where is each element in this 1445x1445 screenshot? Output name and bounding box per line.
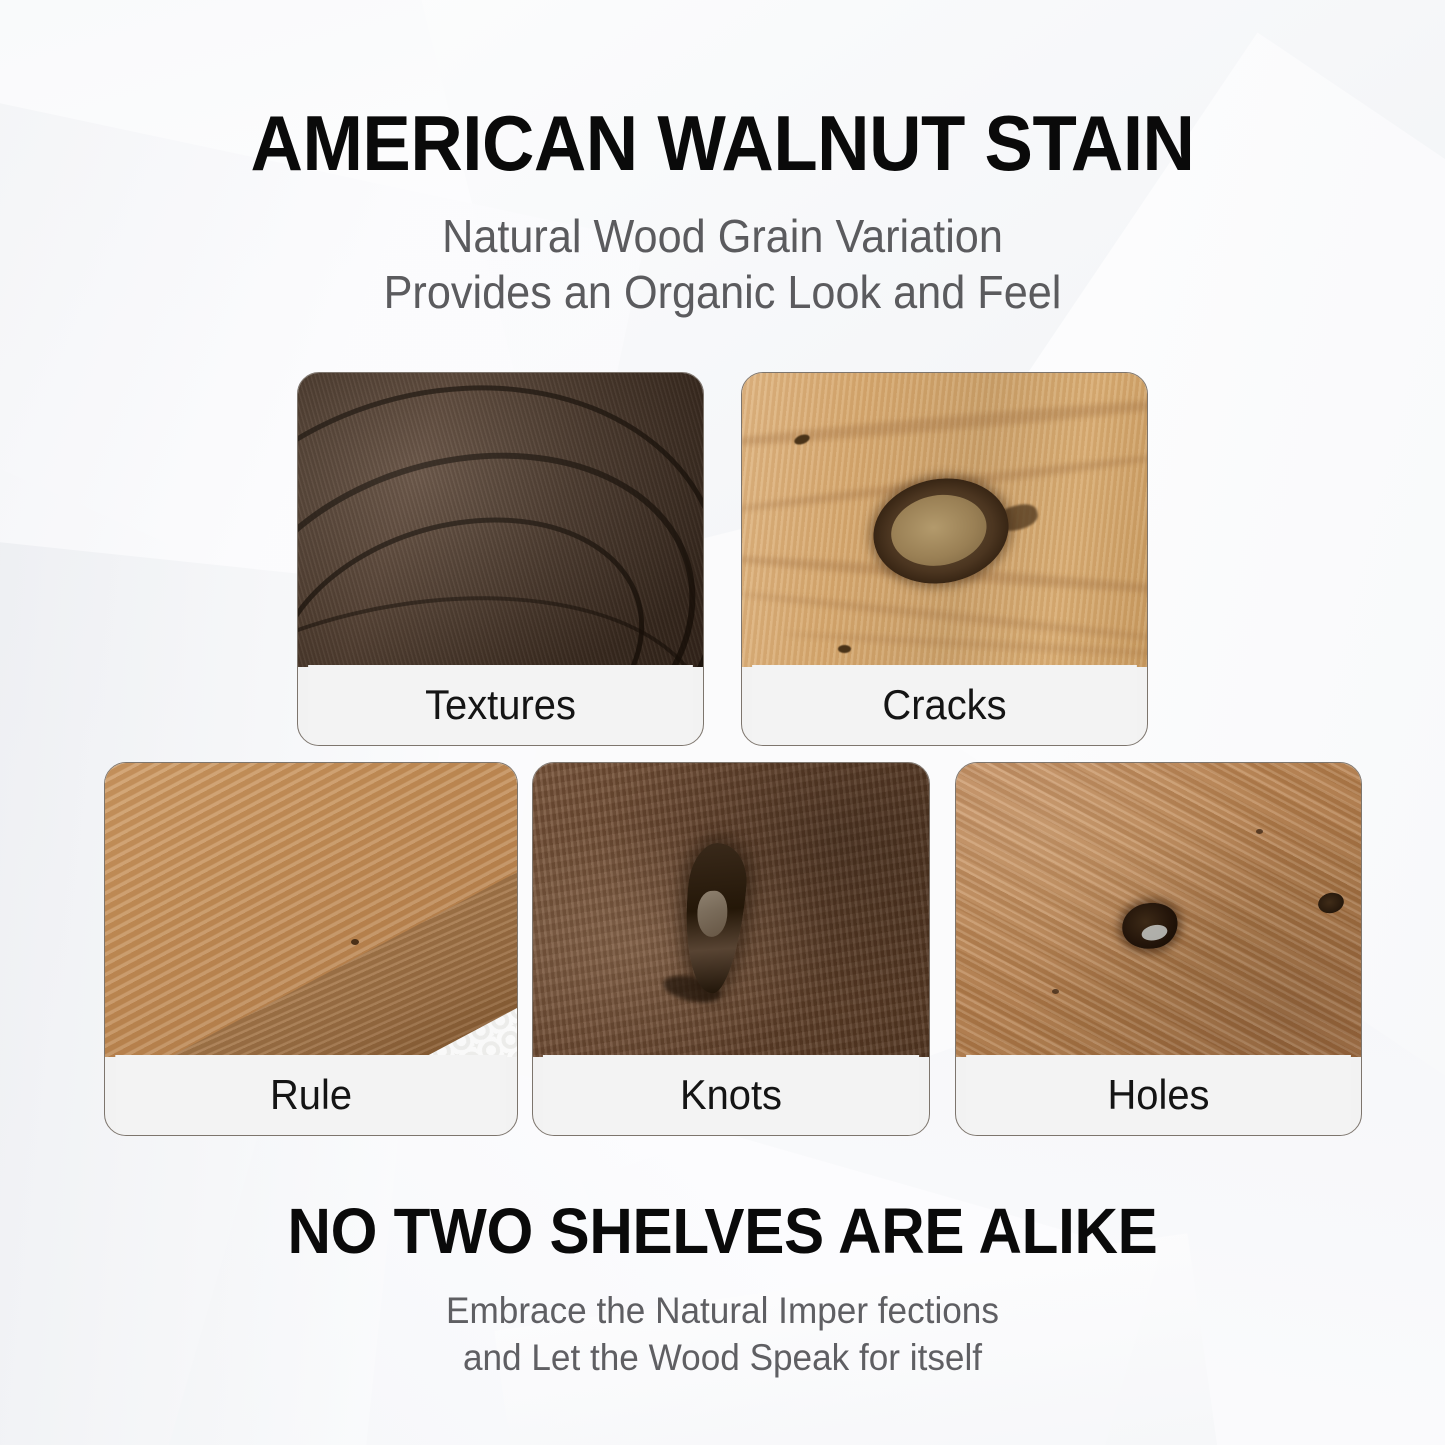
- card-label-textures: Textures: [308, 665, 693, 745]
- grain-speck: [1052, 989, 1059, 994]
- feature-card-cracks[interactable]: Cracks: [741, 372, 1148, 746]
- grain-speck: [351, 939, 359, 945]
- card-label-knots: Knots: [543, 1055, 919, 1135]
- footer-subtitle-line-1: Embrace the Natural Imper fections: [36, 1287, 1409, 1334]
- feature-card-holes[interactable]: Holes: [955, 762, 1362, 1136]
- infographic-page: AMERICAN WALNUT STAIN Natural Wood Grain…: [0, 0, 1445, 1445]
- feature-card-rule[interactable]: Rule: [104, 762, 518, 1136]
- micro-knot: [838, 645, 851, 653]
- footer-subtitle: Embrace the Natural Imper fections and L…: [36, 1287, 1409, 1382]
- hole-chip: [1140, 923, 1169, 943]
- page-subtitle-line-2: Provides an Organic Look and Feel: [43, 264, 1401, 320]
- grain-speck: [1256, 829, 1263, 834]
- card-label-rule: Rule: [115, 1055, 506, 1135]
- feature-card-knots[interactable]: Knots: [532, 762, 930, 1136]
- page-subtitle: Natural Wood Grain Variation Provides an…: [43, 208, 1401, 320]
- knot-highlight: [697, 890, 729, 937]
- knots-photo: [533, 763, 929, 1057]
- feature-card-textures[interactable]: Textures: [297, 372, 704, 746]
- cracks-photo: [742, 373, 1147, 667]
- textures-photo: [298, 373, 703, 667]
- footer-title: NO TWO SHELVES ARE ALIKE: [43, 1199, 1401, 1263]
- photo-sheen: [298, 373, 703, 667]
- card-label-cracks: Cracks: [752, 665, 1137, 745]
- page-subtitle-line-1: Natural Wood Grain Variation: [43, 208, 1401, 264]
- footer-subtitle-line-2: and Let the Wood Speak for itself: [36, 1334, 1409, 1381]
- card-label-holes: Holes: [966, 1055, 1351, 1135]
- rule-photo: [105, 763, 517, 1057]
- knot-core: [886, 488, 993, 574]
- page-title: AMERICAN WALNUT STAIN: [51, 104, 1395, 182]
- holes-photo: [956, 763, 1361, 1057]
